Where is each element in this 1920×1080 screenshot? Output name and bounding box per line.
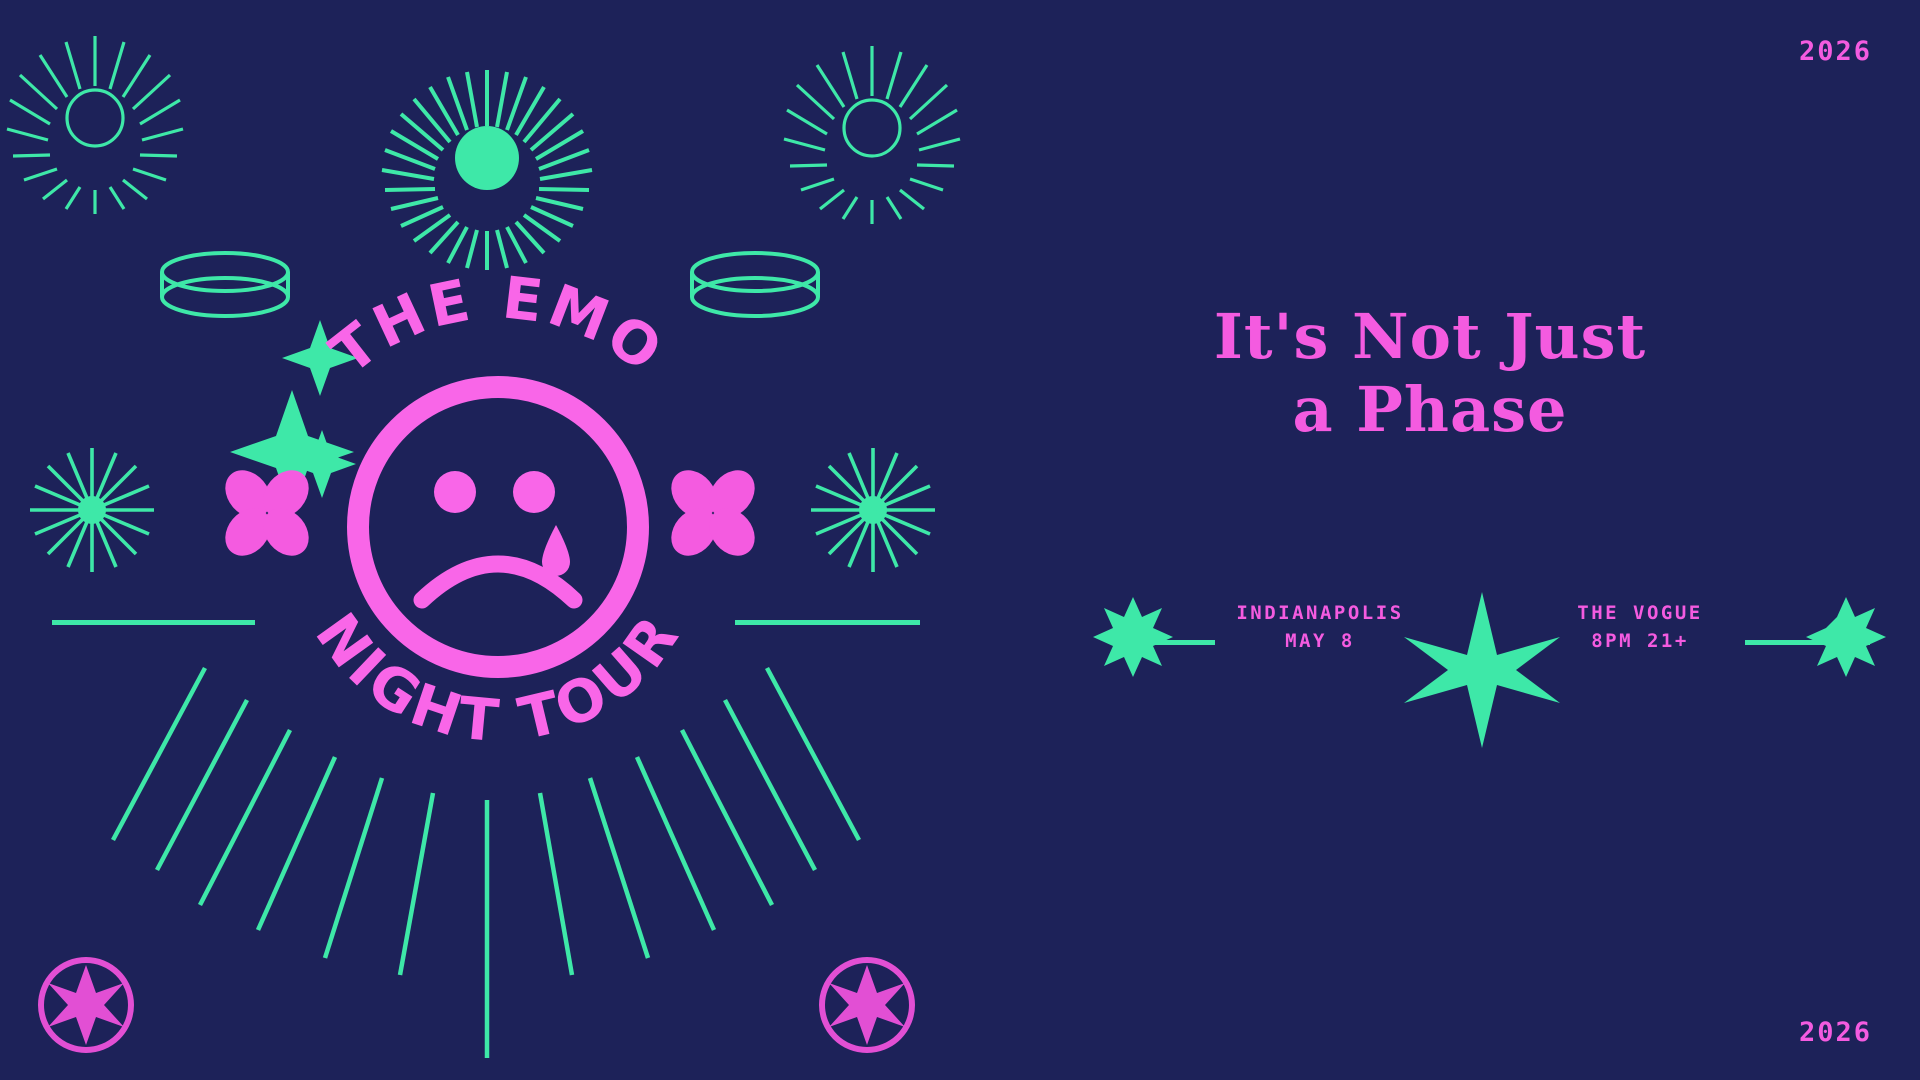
ellipse-ring-icon-right xyxy=(692,253,818,316)
emblem-top-arc-text: THE EMO xyxy=(318,263,678,387)
emblem-rule-right xyxy=(735,620,920,625)
info-venue-time: 8PM 21+ xyxy=(1525,628,1755,656)
starburst-icon-top-left xyxy=(7,36,183,214)
info-city-block: INDIANAPOLIS MAY 8 xyxy=(1205,600,1435,655)
poster-canvas: THE EMO NIGHT TOUR 2026 2026 It's Not Ju… xyxy=(0,0,1920,1080)
starburst-icon-mid-right xyxy=(811,448,935,572)
emblem-tear-drop xyxy=(542,525,570,576)
emblem-bottom-arc-text: NIGHT TOUR xyxy=(302,601,693,756)
emblem-eye-left xyxy=(434,471,476,513)
ellipse-ring-icon-left xyxy=(162,253,288,316)
tour-emblem: THE EMO NIGHT TOUR xyxy=(302,263,693,755)
year-label-top-right: 2026 xyxy=(1799,36,1872,67)
decor-layer: THE EMO NIGHT TOUR xyxy=(0,0,1920,1080)
emblem-eye-right xyxy=(513,471,555,513)
circled-star-badge-icon-right xyxy=(822,960,912,1050)
info-city-date: MAY 8 xyxy=(1205,628,1435,656)
info-venue-block: THE VOGUE 8PM 21+ xyxy=(1525,600,1755,655)
starburst-icon-large xyxy=(382,70,592,270)
headline-line-1: It's Not Just xyxy=(1000,300,1860,373)
headline: It's Not Just a Phase xyxy=(1000,300,1860,446)
tour-info-row: INDIANAPOLIS MAY 8 THE VOGUE 8PM 21+ xyxy=(1085,580,1895,680)
starburst-icon-mid-left xyxy=(30,448,154,572)
info-rule-right xyxy=(1745,640,1870,645)
info-rule-left xyxy=(1115,640,1215,645)
info-city-name: INDIANAPOLIS xyxy=(1205,600,1435,628)
four-petal-clover-icon-left xyxy=(216,461,318,565)
four-petal-clover-icon-right xyxy=(662,461,764,565)
info-venue-name: THE VOGUE xyxy=(1525,600,1755,628)
starburst-icon-top-right xyxy=(784,46,960,224)
right-content-column: It's Not Just a Phase xyxy=(1060,300,1860,446)
headline-line-2: a Phase xyxy=(1000,373,1860,446)
year-label-bottom-right: 2026 xyxy=(1799,1017,1872,1048)
emblem-rule-left xyxy=(52,620,255,625)
circled-star-badge-icon-left xyxy=(41,960,131,1050)
